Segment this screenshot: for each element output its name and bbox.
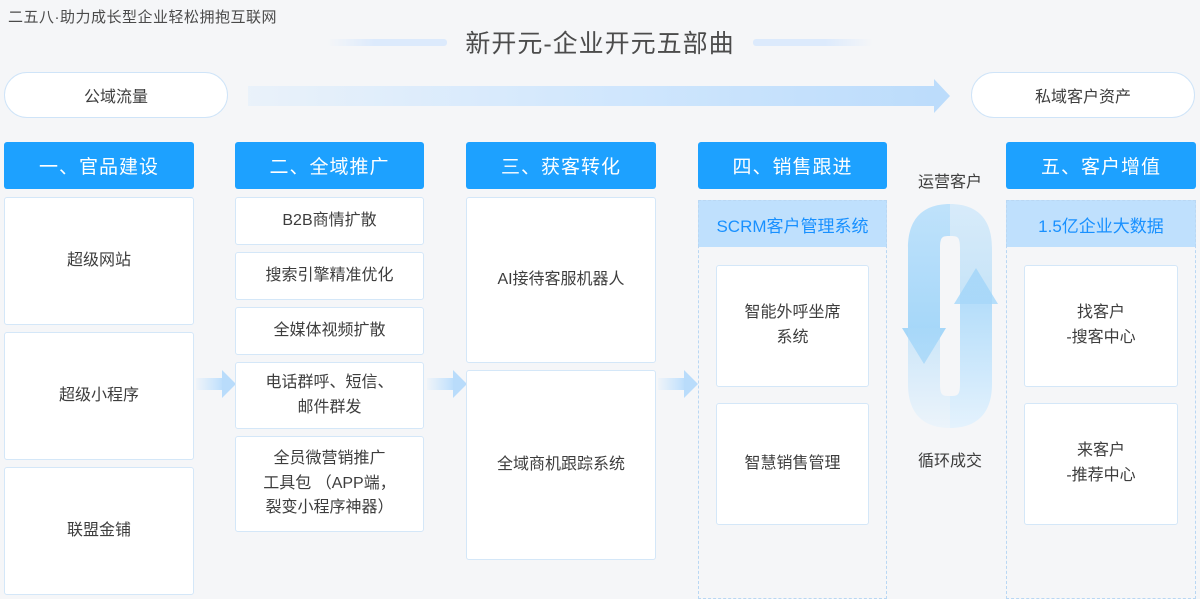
card-item[interactable]: AI接待客服机器人 xyxy=(466,197,656,363)
step-arrow-3-to-4-icon xyxy=(658,370,698,398)
cycle-top-label: 运营客户 xyxy=(918,168,982,192)
step-arrow-2-to-3-icon xyxy=(427,370,467,398)
card-item[interactable]: 超级网站 xyxy=(4,197,194,325)
flow-column-5: 五、客户增值 1.5亿企业大数据 找客户 -搜客中心 来客户 -推荐中心 xyxy=(1006,142,1196,579)
step-arrow-1-to-2-icon xyxy=(196,370,236,398)
title-rule-right-decoration xyxy=(753,39,873,46)
column-1-header[interactable]: 一、官品建设 xyxy=(4,142,194,189)
card-item[interactable]: 超级小程序 xyxy=(4,332,194,460)
column-1-cards: 超级网站 超级小程序 联盟金铺 xyxy=(4,197,194,595)
card-item[interactable]: 联盟金铺 xyxy=(4,467,194,595)
private-customer-asset-pill[interactable]: 私域客户资产 xyxy=(971,72,1195,118)
column-5-header[interactable]: 五、客户增值 xyxy=(1006,142,1196,189)
flow-column-1: 一、官品建设 超级网站 超级小程序 联盟金铺 xyxy=(4,142,194,579)
bigdata-group-title[interactable]: 1.5亿企业大数据 xyxy=(1006,200,1196,247)
page-title-row: 新开元-企业开元五部曲 xyxy=(0,22,1200,62)
loop-arrow-icon xyxy=(902,196,998,441)
scrm-group-box: SCRM客户管理系统 智能外呼坐席 系统 智慧销售管理 xyxy=(698,200,887,599)
column-3-cards: AI接待客服机器人 全域商机跟踪系统 xyxy=(466,197,656,560)
card-item[interactable]: 找客户 -搜客中心 xyxy=(1024,265,1178,387)
column-5-cards: 找客户 -搜客中心 来客户 -推荐中心 xyxy=(1007,247,1195,525)
card-item[interactable]: 全域商机跟踪系统 xyxy=(466,370,656,560)
traffic-flow-band: 公域流量 私域客户资产 xyxy=(0,72,1200,120)
title-rule-left-decoration xyxy=(327,39,447,46)
card-item[interactable]: 全员微营销推广 工具包 （APP端， 裂变小程序神器） xyxy=(235,436,424,532)
bigdata-group-box: 1.5亿企业大数据 找客户 -搜客中心 来客户 -推荐中心 xyxy=(1006,200,1196,599)
cycle-bottom-label: 循环成交 xyxy=(918,447,982,471)
card-item[interactable]: 全媒体视频扩散 xyxy=(235,307,424,355)
flow-column-4: 四、销售跟进 SCRM客户管理系统 智能外呼坐席 系统 智慧销售管理 xyxy=(698,142,887,579)
card-item[interactable]: B2B商情扩散 xyxy=(235,197,424,245)
column-2-cards: B2B商情扩散 搜索引擎精准优化 全媒体视频扩散 电话群呼、短信、 邮件群发 全… xyxy=(235,197,424,532)
card-item[interactable]: 来客户 -推荐中心 xyxy=(1024,403,1178,525)
page-title: 新开元-企业开元五部曲 xyxy=(465,24,734,60)
right-arrow-icon xyxy=(248,86,950,106)
flow-column-2: 二、全域推广 B2B商情扩散 搜索引擎精准优化 全媒体视频扩散 电话群呼、短信、… xyxy=(235,142,424,579)
card-item[interactable]: 智能外呼坐席 系统 xyxy=(716,265,869,387)
card-item[interactable]: 电话群呼、短信、 邮件群发 xyxy=(235,362,424,429)
column-4-cards: 智能外呼坐席 系统 智慧销售管理 xyxy=(699,247,886,525)
scrm-group-title[interactable]: SCRM客户管理系统 xyxy=(698,200,887,247)
card-item[interactable]: 搜索引擎精准优化 xyxy=(235,252,424,300)
column-2-header[interactable]: 二、全域推广 xyxy=(235,142,424,189)
card-item[interactable]: 智慧销售管理 xyxy=(716,403,869,525)
column-4-header[interactable]: 四、销售跟进 xyxy=(698,142,887,189)
public-traffic-pill[interactable]: 公域流量 xyxy=(4,72,228,118)
flow-column-3: 三、获客转化 AI接待客服机器人 全域商机跟踪系统 xyxy=(466,142,656,579)
five-step-flow: 一、官品建设 超级网站 超级小程序 联盟金铺 二、全域推广 B2B商情扩散 搜索… xyxy=(0,142,1200,579)
column-3-header[interactable]: 三、获客转化 xyxy=(466,142,656,189)
cycle-column: 运营客户 xyxy=(900,142,1000,579)
